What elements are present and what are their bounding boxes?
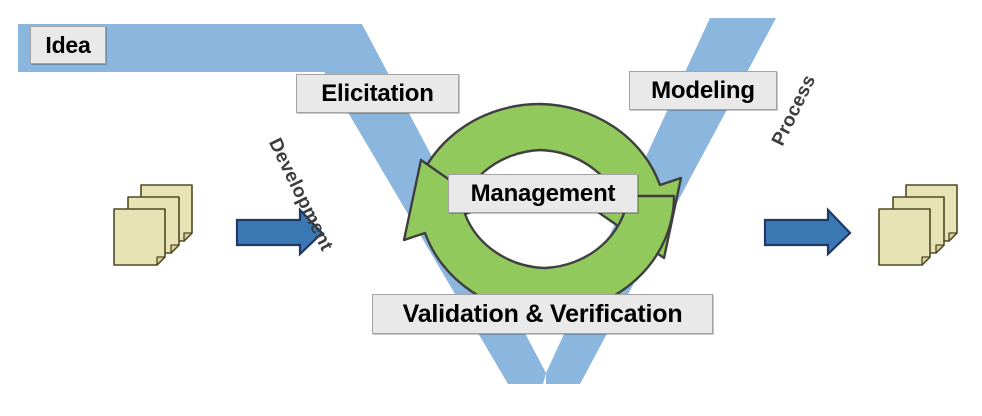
input-documents [114, 185, 192, 265]
label-validation-verification[interactable]: Validation & Verification [372, 294, 713, 334]
label-modeling[interactable]: Modeling [629, 71, 777, 110]
label-management[interactable]: Management [448, 174, 638, 213]
diagram-canvas: Idea Elicitation Modeling Management Val… [0, 0, 982, 416]
label-elicitation[interactable]: Elicitation [296, 74, 459, 113]
output-documents [879, 185, 957, 265]
label-idea[interactable]: Idea [30, 26, 106, 64]
output-arrow [765, 210, 850, 254]
